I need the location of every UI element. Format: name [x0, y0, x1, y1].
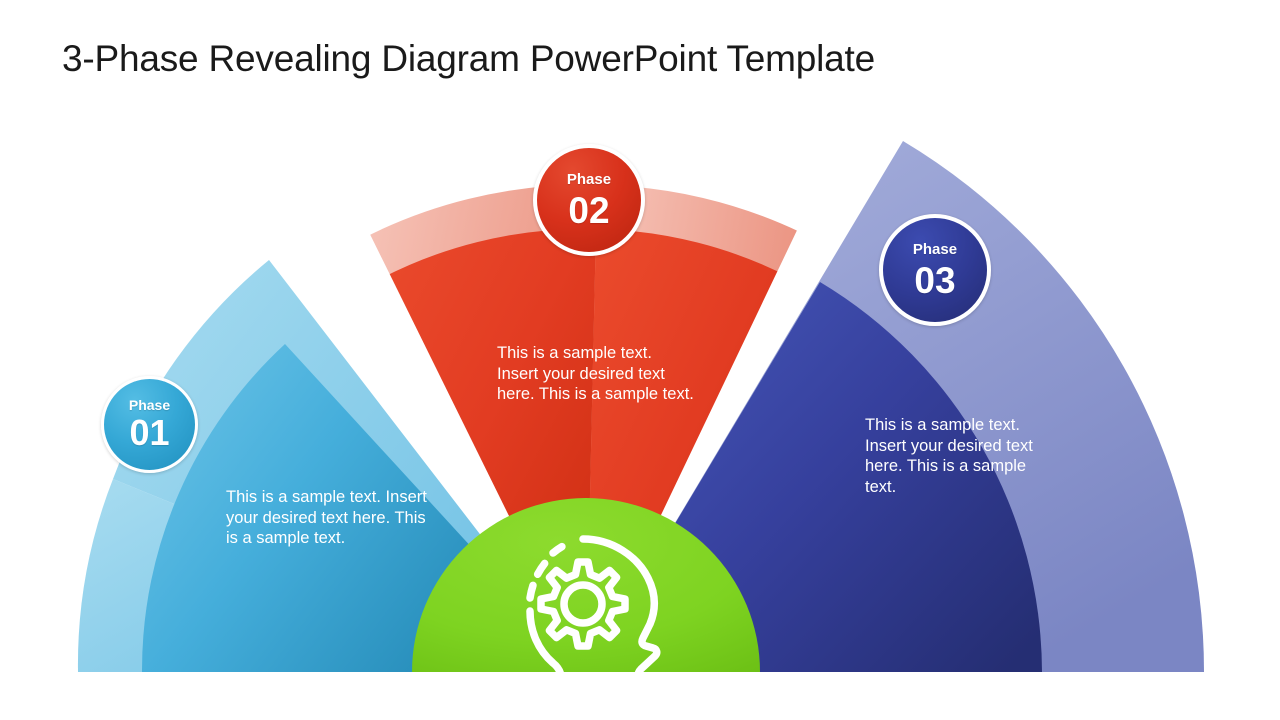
phase-badge-01-number: 01 [129, 415, 169, 451]
segment-3-body-text: This is a sample text. Insert your desir… [865, 415, 1037, 497]
three-phase-fan-diagram: This is a sample text. Insert your desir… [0, 0, 1280, 720]
phase-badge-02[interactable]: Phase 02 [533, 144, 645, 256]
phase-badge-01-label: Phase [129, 398, 170, 412]
segment-2-body-text: This is a sample text. Insert your desir… [497, 343, 697, 405]
phase-badge-03-label: Phase [913, 242, 957, 257]
phase-badge-02-label: Phase [567, 172, 611, 187]
phase-badge-03-number: 03 [914, 262, 955, 299]
segment-1-body-text: This is a sample text. Insert your desir… [226, 487, 431, 549]
phase-badge-03[interactable]: Phase 03 [879, 214, 991, 326]
phase-badge-02-number: 02 [568, 192, 609, 229]
phase-badge-01[interactable]: Phase 01 [101, 376, 198, 473]
